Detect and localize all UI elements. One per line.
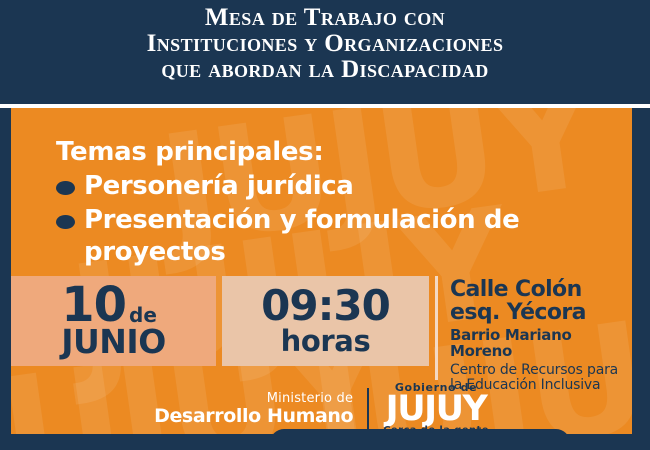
topic-item: Presentación y formulación de proyectos <box>56 204 616 268</box>
bullet-icon <box>56 181 75 195</box>
header-title-line-3: que abordan la Discapacidad <box>161 57 488 83</box>
topics-section: Temas principales: Personería jurídica P… <box>56 136 616 268</box>
topics-heading: Temas principales: <box>56 136 616 168</box>
location-box: Calle Colón esq. Yécora Barrio Mariano M… <box>435 276 632 380</box>
date-stack: 10 de JUNIO <box>61 283 166 359</box>
header-title-line-2: Instituciones y Organizaciones <box>147 31 504 57</box>
ministry-logo: Ministerio de Desarrollo Humano <box>154 391 353 427</box>
ministry-top-label: Ministerio de <box>154 391 353 406</box>
bullet-icon <box>56 215 75 229</box>
bottom-bar <box>0 434 650 450</box>
time-value: 09:30 <box>261 285 390 327</box>
topic-label: Presentación y formulación de proyectos <box>84 204 616 268</box>
time-box: 09:30 horas <box>222 276 429 366</box>
poster-body: JUJUY JUJUY JUJUY JUJUY Temas principale… <box>11 108 632 438</box>
date-day: 10 <box>61 283 126 327</box>
date-top-line: 10 de <box>61 283 166 327</box>
location-neighborhood: Barrio Mariano Moreno <box>450 327 632 359</box>
topic-label: Personería jurídica <box>84 170 353 202</box>
topic-item: Personería jurídica <box>56 170 616 202</box>
time-stack: 09:30 horas <box>261 285 390 357</box>
gov-name: JUJUY <box>383 393 489 426</box>
header-title-line-1: Mesa de Trabajo con <box>205 5 445 31</box>
event-poster: Mesa de Trabajo con Instituciones y Orga… <box>0 0 650 450</box>
poster-header: Mesa de Trabajo con Instituciones y Orga… <box>0 0 650 104</box>
event-info-row: 10 de JUNIO 09:30 horas Calle Colón esq.… <box>11 276 632 376</box>
location-street: Calle Colón esq. Yécora <box>450 278 632 324</box>
brand-divider <box>367 388 369 430</box>
ministry-name: Desarrollo Humano <box>154 406 353 427</box>
date-box: 10 de JUNIO <box>11 276 216 366</box>
location-stack: Calle Colón esq. Yécora Barrio Mariano M… <box>450 278 632 393</box>
date-month: JUNIO <box>61 325 166 359</box>
